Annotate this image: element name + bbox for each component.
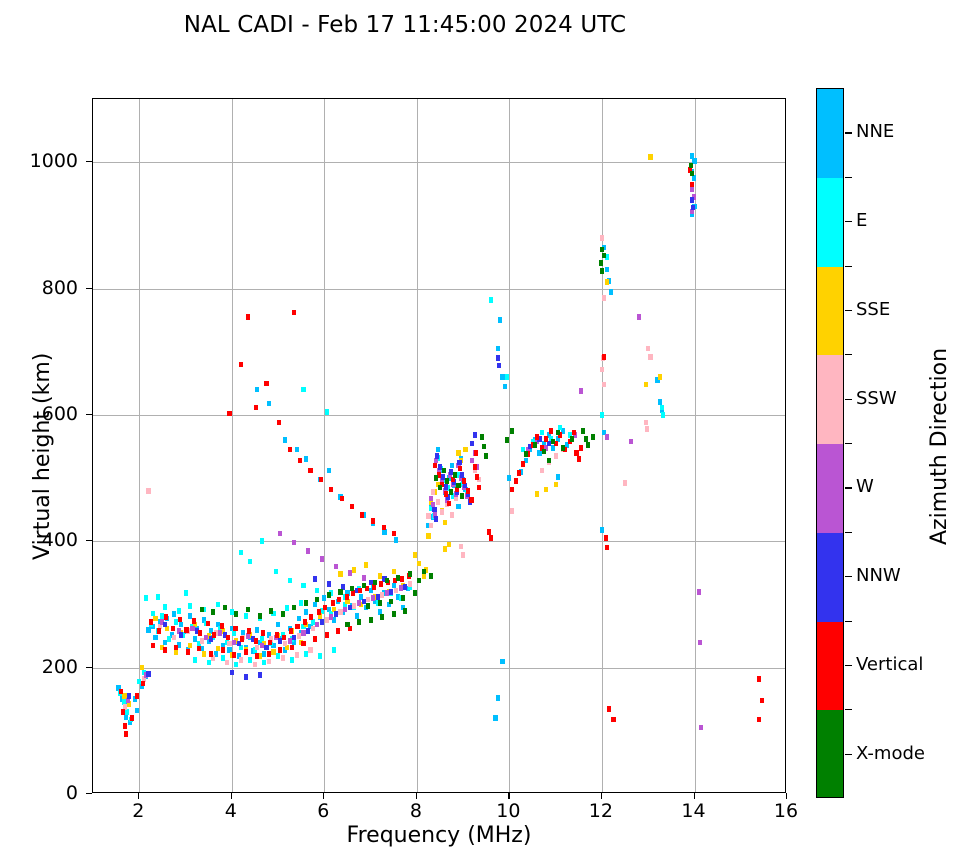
data-point xyxy=(602,253,606,259)
colorbar-segment-nnw[interactable] xyxy=(817,533,843,622)
data-point xyxy=(358,588,362,594)
data-point xyxy=(549,428,553,434)
page-title: NAL CADI - Feb 17 11:45:00 2024 UTC xyxy=(0,12,810,38)
data-point xyxy=(487,529,491,535)
data-point xyxy=(239,657,243,663)
data-point xyxy=(278,647,282,653)
data-point xyxy=(366,597,370,603)
colorbar-segment-e[interactable] xyxy=(817,178,843,267)
data-point xyxy=(380,614,384,620)
data-point xyxy=(234,611,238,617)
data-point xyxy=(248,559,252,565)
x-axis-label: Frequency (MHz) xyxy=(92,823,786,848)
data-point xyxy=(207,660,211,666)
data-point xyxy=(507,475,511,481)
x-tick-label: 16 xyxy=(756,800,816,822)
colorbar-label-vertical: Vertical xyxy=(856,654,923,675)
data-point xyxy=(146,488,150,494)
data-point xyxy=(276,622,280,628)
data-point xyxy=(496,355,500,361)
data-point xyxy=(337,597,341,603)
data-point xyxy=(288,638,292,644)
data-point xyxy=(371,518,375,524)
data-point xyxy=(304,600,308,606)
data-point xyxy=(146,671,150,677)
y-tick xyxy=(86,288,92,289)
gridline-vertical xyxy=(602,99,603,792)
data-point xyxy=(579,445,583,451)
data-point xyxy=(498,317,502,323)
colorbar-tick xyxy=(845,221,852,222)
x-tick xyxy=(323,793,324,799)
data-point xyxy=(605,279,609,285)
data-point xyxy=(535,491,539,497)
data-point xyxy=(441,474,445,480)
data-point xyxy=(216,602,220,608)
data-point xyxy=(198,630,202,636)
data-point xyxy=(360,512,364,518)
data-point xyxy=(458,466,462,472)
gridline-vertical xyxy=(324,99,325,792)
data-point xyxy=(570,436,574,442)
data-point xyxy=(320,619,324,625)
data-point xyxy=(141,681,145,687)
data-point xyxy=(433,463,437,469)
data-point xyxy=(319,477,323,483)
x-tick-label: 4 xyxy=(201,800,261,822)
colorbar-label: Azimuth Direction xyxy=(927,348,952,545)
data-point xyxy=(426,513,430,519)
data-point xyxy=(556,474,560,480)
data-point xyxy=(648,154,652,160)
data-point xyxy=(230,609,234,615)
data-point xyxy=(172,635,176,641)
data-point xyxy=(623,480,627,486)
colorbar-label-e: E xyxy=(856,210,867,231)
data-point xyxy=(600,527,604,533)
colorbar-tick xyxy=(845,665,852,666)
data-point xyxy=(329,487,333,493)
data-point xyxy=(602,295,606,301)
data-point xyxy=(325,617,329,623)
data-point xyxy=(551,439,555,445)
data-point xyxy=(366,603,370,609)
data-point xyxy=(699,725,703,731)
data-point xyxy=(221,647,225,653)
data-point xyxy=(489,297,493,303)
data-point xyxy=(364,562,368,568)
data-point xyxy=(240,636,244,642)
x-tick xyxy=(508,793,509,799)
data-point xyxy=(331,600,335,606)
data-point xyxy=(295,624,299,630)
data-point xyxy=(577,456,581,462)
data-point xyxy=(447,542,451,548)
data-point xyxy=(690,197,694,203)
data-point xyxy=(329,614,333,620)
data-point xyxy=(533,442,537,448)
data-point xyxy=(434,475,438,481)
data-point xyxy=(429,523,433,529)
colorbar-label-w: W xyxy=(856,476,874,497)
data-point xyxy=(691,205,695,211)
data-point xyxy=(445,478,449,484)
data-point xyxy=(438,485,442,491)
data-point xyxy=(288,447,292,453)
data-point xyxy=(151,643,155,649)
data-point xyxy=(246,633,250,639)
data-point xyxy=(163,604,167,610)
data-point xyxy=(338,589,342,595)
data-point xyxy=(473,464,477,470)
data-point xyxy=(260,643,264,649)
data-point xyxy=(600,367,604,373)
x-tick-label: 8 xyxy=(386,800,446,822)
colorbar-label-x-mode: X-mode xyxy=(856,743,925,764)
data-point xyxy=(167,636,171,642)
data-point xyxy=(584,436,588,442)
x-tick xyxy=(231,793,232,799)
data-point xyxy=(264,381,268,387)
data-point xyxy=(255,645,259,651)
data-point xyxy=(362,599,366,605)
data-point xyxy=(258,613,262,619)
data-point xyxy=(255,627,259,633)
data-point xyxy=(503,384,507,390)
colorbar-tick xyxy=(845,310,852,311)
data-point xyxy=(470,441,474,447)
data-point xyxy=(591,434,595,440)
colorbar-tick xyxy=(845,487,852,488)
data-point xyxy=(477,485,481,491)
data-point xyxy=(315,588,319,594)
data-point xyxy=(202,651,206,657)
data-point xyxy=(311,626,315,632)
data-point xyxy=(510,428,514,434)
data-point xyxy=(295,447,299,453)
data-point xyxy=(431,489,435,495)
data-point xyxy=(338,609,342,615)
data-point xyxy=(308,468,312,474)
data-point xyxy=(204,635,208,641)
data-point xyxy=(380,592,384,598)
data-point xyxy=(301,630,305,636)
data-point xyxy=(362,583,366,589)
data-point xyxy=(599,260,603,266)
plot-area[interactable] xyxy=(92,98,786,793)
data-point xyxy=(460,493,464,499)
y-tick xyxy=(86,793,92,794)
data-point xyxy=(200,638,204,644)
data-point xyxy=(233,626,237,632)
data-point xyxy=(232,640,236,646)
data-point xyxy=(301,387,305,393)
data-point xyxy=(239,550,243,556)
data-point xyxy=(644,420,648,426)
data-point xyxy=(253,662,257,668)
data-point xyxy=(336,628,340,634)
data-point xyxy=(277,420,281,426)
data-point xyxy=(357,619,361,625)
data-point xyxy=(285,605,289,611)
data-point xyxy=(660,405,664,411)
colorbar-label-nne: NNE xyxy=(856,121,894,142)
data-point xyxy=(602,382,606,388)
data-point xyxy=(408,581,412,587)
data-point xyxy=(281,611,285,617)
data-point xyxy=(447,501,451,507)
data-point xyxy=(456,483,460,489)
data-point xyxy=(524,451,528,457)
y-tick xyxy=(86,414,92,415)
colorbar-boundary-tick xyxy=(845,443,852,444)
data-point xyxy=(225,660,229,666)
data-point xyxy=(535,434,539,440)
data-point xyxy=(579,388,583,394)
data-point xyxy=(505,437,509,443)
data-point xyxy=(350,504,354,510)
data-point xyxy=(244,613,248,619)
colorbar-boundary-tick xyxy=(845,266,852,267)
data-point xyxy=(267,659,271,665)
x-tick xyxy=(416,793,417,799)
gridline-vertical xyxy=(232,99,233,792)
data-point xyxy=(177,608,181,614)
colorbar-label-ssw: SSW xyxy=(856,388,897,409)
gridline-horizontal xyxy=(93,162,785,163)
data-point xyxy=(261,630,265,636)
data-point xyxy=(298,458,302,464)
data-point xyxy=(413,552,417,558)
data-point xyxy=(456,450,460,456)
data-point xyxy=(440,509,444,515)
y-tick-label: 1000 xyxy=(18,150,78,172)
data-point xyxy=(760,698,764,704)
data-point xyxy=(604,535,608,541)
data-point xyxy=(304,609,308,615)
colorbar-segment-nne[interactable] xyxy=(817,89,843,178)
data-point xyxy=(255,387,259,393)
data-point xyxy=(124,731,128,737)
data-point xyxy=(315,597,319,603)
data-point xyxy=(586,442,590,448)
data-point xyxy=(757,717,761,723)
data-point xyxy=(482,444,486,450)
data-point xyxy=(422,569,426,575)
data-point xyxy=(343,607,347,613)
data-point xyxy=(497,363,501,369)
data-point xyxy=(184,590,188,596)
data-point xyxy=(689,163,693,169)
data-point xyxy=(698,640,702,646)
data-point xyxy=(352,567,356,573)
data-point xyxy=(692,158,696,164)
data-point xyxy=(313,576,317,582)
data-point xyxy=(153,635,157,641)
data-point xyxy=(436,447,440,453)
data-point xyxy=(230,670,234,676)
data-point xyxy=(600,247,604,253)
data-point xyxy=(297,616,301,622)
data-point xyxy=(394,537,398,543)
data-point xyxy=(369,617,373,623)
data-point xyxy=(496,346,500,352)
data-point xyxy=(239,362,243,368)
data-point xyxy=(605,267,609,273)
data-point xyxy=(283,437,287,443)
data-point xyxy=(600,268,604,274)
data-point xyxy=(392,531,396,537)
data-point xyxy=(389,589,393,595)
data-point xyxy=(396,575,400,581)
colorbar-boundary-tick xyxy=(845,354,852,355)
data-point xyxy=(313,602,317,608)
data-point xyxy=(322,595,326,601)
data-point xyxy=(510,487,514,493)
data-point xyxy=(378,573,382,579)
data-point xyxy=(389,599,393,605)
data-point xyxy=(644,382,648,388)
data-point xyxy=(125,709,129,715)
data-point xyxy=(292,605,296,611)
data-point xyxy=(288,578,292,584)
data-point xyxy=(435,453,439,459)
data-point xyxy=(757,676,761,682)
data-point xyxy=(262,651,266,657)
gridline-horizontal xyxy=(93,541,785,542)
data-point xyxy=(581,428,585,434)
data-point xyxy=(274,569,278,575)
data-point xyxy=(607,706,611,712)
data-point xyxy=(246,314,250,320)
data-point xyxy=(301,641,305,647)
data-point xyxy=(345,594,349,600)
data-point xyxy=(325,632,329,638)
data-point xyxy=(283,641,287,647)
y-tick-label: 800 xyxy=(18,277,78,299)
data-point xyxy=(574,450,578,456)
gridline-horizontal xyxy=(93,668,785,669)
data-point xyxy=(262,660,266,666)
data-point xyxy=(248,657,252,663)
data-point xyxy=(646,346,650,352)
data-point xyxy=(355,613,359,619)
colorbar-segment-ssw[interactable] xyxy=(817,355,843,444)
y-tick-label: 0 xyxy=(18,782,78,804)
data-point xyxy=(510,508,514,514)
data-point xyxy=(449,489,453,495)
data-point xyxy=(163,647,167,653)
y-tick xyxy=(86,161,92,162)
data-point xyxy=(327,581,331,587)
colorbar-segment-sse[interactable] xyxy=(817,267,843,356)
colorbar-tick xyxy=(845,399,852,400)
x-tick-label: 14 xyxy=(664,800,724,822)
data-point xyxy=(690,171,694,177)
data-point xyxy=(309,614,313,620)
data-point xyxy=(500,659,504,665)
data-point xyxy=(443,546,447,552)
data-point xyxy=(697,589,701,595)
data-point xyxy=(227,411,231,417)
data-point xyxy=(179,632,183,638)
data-point xyxy=(345,622,349,628)
data-point xyxy=(218,630,222,636)
data-point xyxy=(246,607,250,613)
data-point xyxy=(517,470,521,476)
colorbar[interactable] xyxy=(816,88,844,798)
x-tick-label: 6 xyxy=(293,800,353,822)
x-tick xyxy=(786,793,787,799)
data-point xyxy=(540,430,544,436)
data-point xyxy=(301,583,305,589)
data-point xyxy=(521,461,525,467)
data-point xyxy=(275,632,279,638)
data-point xyxy=(462,478,466,484)
data-point xyxy=(352,603,356,609)
data-point xyxy=(373,580,377,586)
data-point xyxy=(119,689,123,695)
data-point xyxy=(146,627,150,633)
data-point xyxy=(480,434,484,440)
data-point xyxy=(264,645,268,651)
data-point xyxy=(304,456,308,462)
gridline-horizontal xyxy=(93,415,785,416)
figure-canvas: NAL CADI - Feb 17 11:45:00 2024 UTC 2468… xyxy=(0,0,958,857)
colorbar-segment-x-mode[interactable] xyxy=(817,710,843,798)
data-point xyxy=(209,651,213,657)
data-point xyxy=(255,653,259,659)
data-point xyxy=(318,653,322,659)
data-point xyxy=(334,564,338,570)
data-point xyxy=(297,633,301,639)
data-point xyxy=(417,578,421,584)
data-point xyxy=(303,619,307,625)
colorbar-segment-w[interactable] xyxy=(817,444,843,533)
data-point xyxy=(234,662,238,668)
data-point xyxy=(340,496,344,502)
data-point xyxy=(267,651,271,657)
data-point xyxy=(600,235,604,241)
data-point xyxy=(378,600,382,606)
data-point xyxy=(540,468,544,474)
data-point xyxy=(460,472,464,478)
data-point xyxy=(223,605,227,611)
data-point xyxy=(153,616,157,622)
data-point xyxy=(188,603,192,609)
data-point xyxy=(260,538,264,544)
data-point xyxy=(602,354,606,360)
data-point xyxy=(434,516,438,522)
data-point xyxy=(292,540,296,546)
data-point xyxy=(130,715,134,721)
data-point xyxy=(392,611,396,617)
x-tick-label: 2 xyxy=(108,800,168,822)
data-point xyxy=(350,586,354,592)
data-point xyxy=(290,645,294,651)
data-point xyxy=(403,608,407,614)
data-point xyxy=(394,588,398,594)
data-point xyxy=(371,595,375,601)
data-point xyxy=(192,618,196,624)
data-point xyxy=(469,497,473,503)
data-point xyxy=(157,628,161,634)
data-point xyxy=(463,447,467,453)
x-tick-label: 10 xyxy=(478,800,538,822)
data-point xyxy=(658,374,662,380)
colorbar-segment-vertical[interactable] xyxy=(817,622,843,711)
gridline-vertical xyxy=(417,99,418,792)
